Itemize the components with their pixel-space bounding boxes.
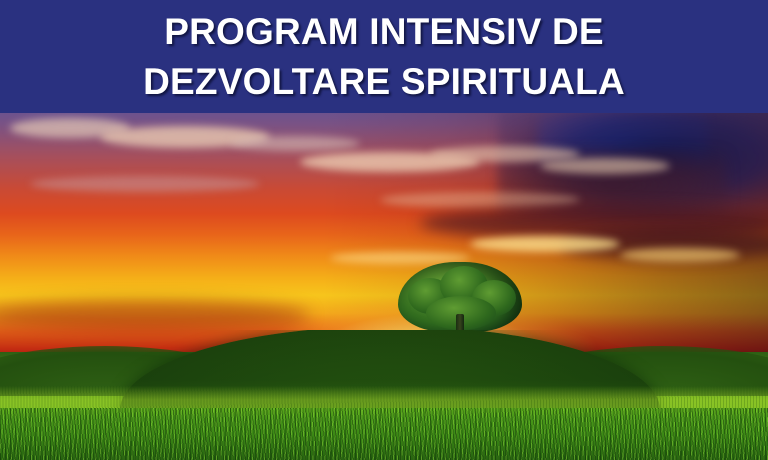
title-line-1: PROGRAM INTENSIV DE [164, 7, 604, 56]
foreground-grass-texture [0, 408, 768, 460]
golden-cloud-highlight [470, 236, 620, 252]
title-line-2: DEZVOLTARE SPIRITUALA [143, 57, 625, 106]
title-banner: PROGRAM INTENSIV DE DEZVOLTARE SPIRITUAL… [0, 0, 768, 113]
cloud-streak [380, 192, 580, 208]
cloud-streak [230, 136, 360, 151]
landscape-ground [0, 330, 768, 460]
spiritual-development-program-poster: PROGRAM INTENSIV DE DEZVOLTARE SPIRITUAL… [0, 0, 768, 460]
cloud-streak [540, 158, 670, 174]
golden-cloud-highlight [620, 248, 740, 262]
cloud-streak [30, 176, 260, 192]
